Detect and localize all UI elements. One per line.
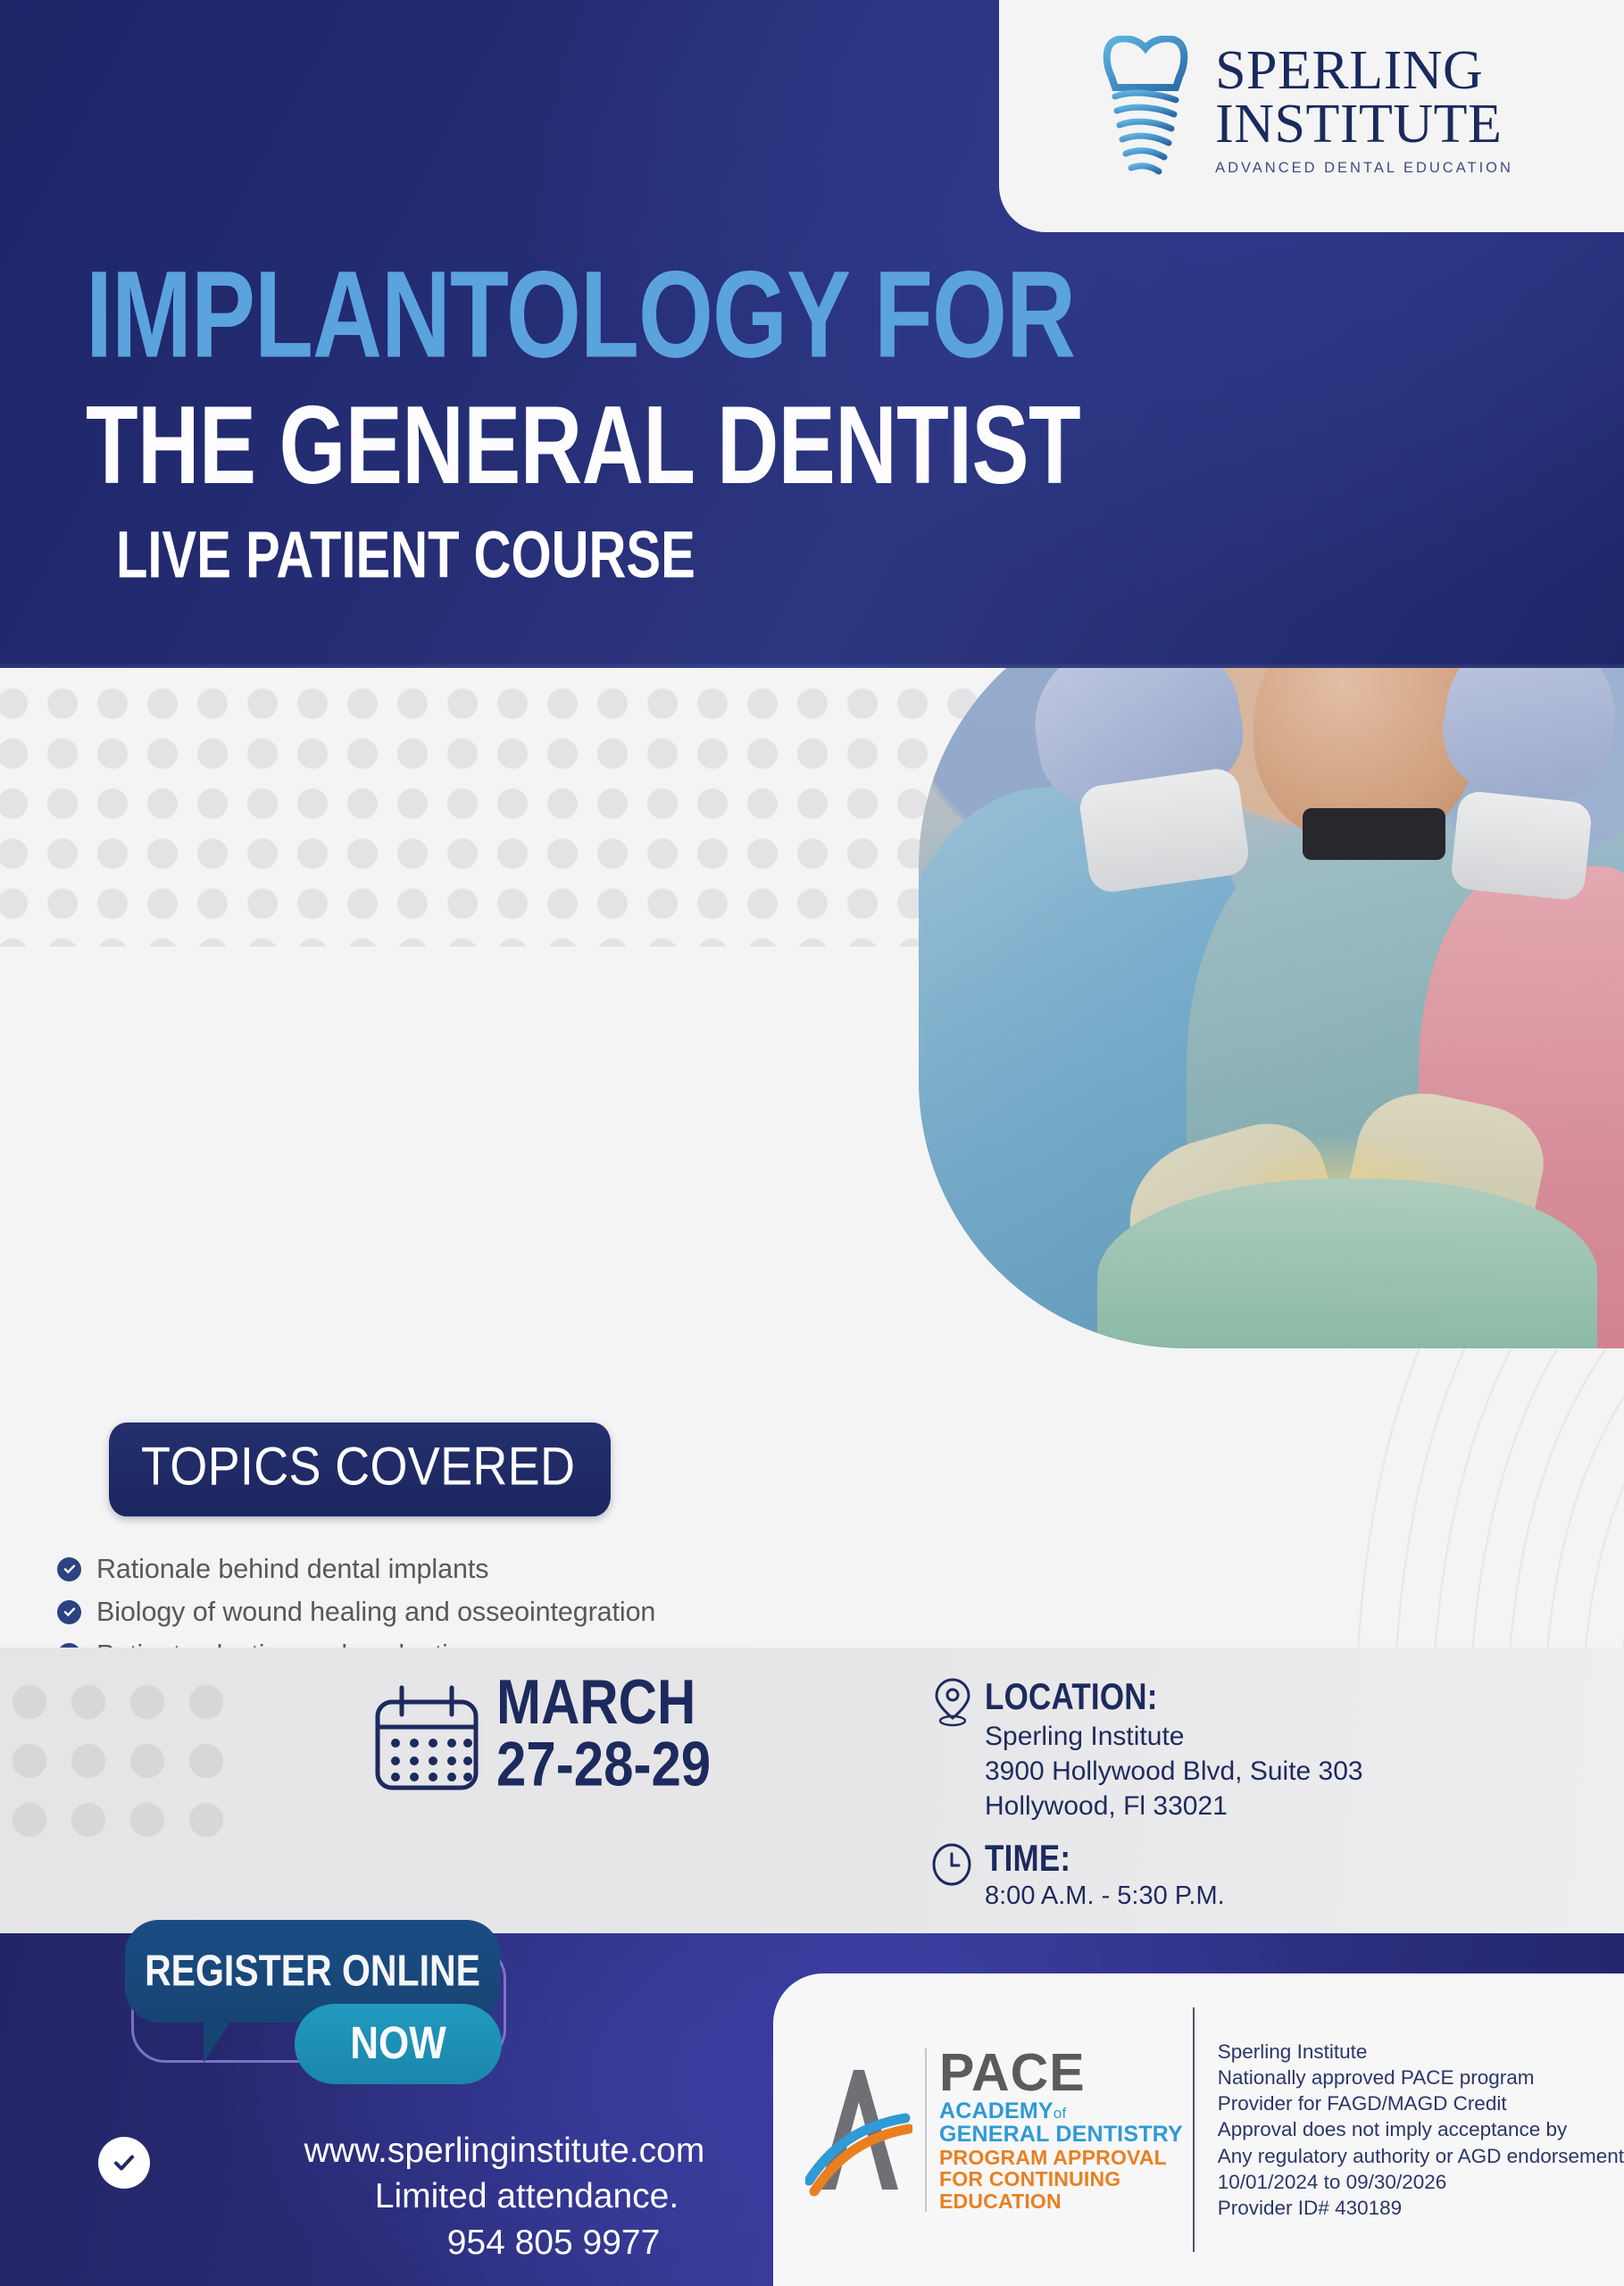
pace-for-continuing: FOR CONTINUING — [939, 2168, 1183, 2190]
location-pin-icon — [930, 1677, 975, 1727]
list-item: Rationale behind dental implants — [57, 1548, 1004, 1590]
logo-line-1: SPERLING — [1215, 45, 1483, 98]
location-label: LOCATION: — [985, 1676, 1158, 1719]
pace-line: Nationally approved PACE program — [1218, 2065, 1624, 2090]
pace-details: Sperling Institute Nationally approved P… — [1218, 2039, 1624, 2222]
title-line-1: IMPLANTOLOGY FOR — [86, 253, 1075, 376]
main-content: TOPICS COVERED Rationale behind dental i… — [0, 668, 1624, 1648]
time-value: 8:00 A.M. - 5:30 P.M. — [985, 1881, 1225, 1911]
pace-wordmark: PACE ACADEMYof GENERAL DENTISTRY PROGRAM… — [925, 2048, 1183, 2212]
logo-line-2: INSTITUTE — [1215, 98, 1502, 152]
topic-label: Biology of wound healing and osseointegr… — [96, 1598, 655, 1626]
pace-program-approval: PROGRAM APPROVAL — [939, 2147, 1183, 2168]
pace-logo: PACE ACADEMYof GENERAL DENTISTRY PROGRAM… — [805, 2048, 1189, 2212]
address-line-1: Sperling Institute — [985, 1719, 1363, 1754]
dot-pattern-decoration — [0, 1673, 232, 1851]
limited-attendance-note: Limited attendance. — [0, 2173, 804, 2219]
pace-academy-line: ACADEMYof — [939, 2099, 1183, 2123]
time-label: TIME: — [985, 1838, 1070, 1881]
register-online-label: REGISTER ONLINE — [145, 1946, 480, 1996]
register-now-button[interactable]: NOW — [295, 2004, 502, 2084]
pace-accreditation-card: PACE ACADEMYof GENERAL DENTISTRY PROGRAM… — [773, 1973, 1624, 2286]
pace-line: Provider ID# 430189 — [1218, 2195, 1624, 2221]
pace-line: 10/01/2024 to 09/30/2026 — [1218, 2169, 1624, 2195]
topic-label: Rationale behind dental implants — [96, 1555, 488, 1583]
topic-label: Patient selection and evaluation — [96, 1640, 479, 1648]
pace-academy-of: of — [1054, 2105, 1067, 2122]
pace-line: Provider for FAGD/MAGD Credit — [1218, 2090, 1624, 2116]
address-line-2: 3900 Hollywood Blvd, Suite 303 — [985, 1754, 1363, 1789]
pace-line: Any regulatory authority or AGD endorsem… — [1218, 2143, 1624, 2169]
poster: SPERLING INSTITUTE ADVANCED DENTAL EDUCA… — [0, 0, 1624, 2286]
register-now-label: NOW — [350, 2018, 446, 2070]
location-address: Sperling Institute 3900 Hollywood Blvd, … — [985, 1719, 1363, 1823]
pace-line: Sperling Institute — [1218, 2039, 1624, 2065]
phone-number[interactable]: 954 805 9977 — [0, 2220, 804, 2265]
pace-line: Approval does not imply acceptance by — [1218, 2116, 1624, 2142]
calendar-icon — [373, 1682, 480, 1793]
title-line-3: LIVE PATIENT COURSE — [116, 522, 695, 588]
list-item: Patient selection and evaluation — [57, 1633, 1004, 1648]
website-link[interactable]: www.sperlinginstitute.com — [0, 2128, 804, 2173]
check-circle-icon — [57, 1600, 81, 1624]
contact-info: www.sperlinginstitute.com Limited attend… — [0, 2128, 804, 2265]
clock-icon — [930, 1843, 973, 1886]
list-item: Biology of wound healing and osseointegr… — [57, 1590, 1004, 1633]
speech-bubble-tail-icon — [204, 2016, 234, 2063]
topics-list: Rationale behind dental implants Biology… — [57, 1548, 1004, 1648]
topics-covered-badge: TOPICS COVERED — [109, 1422, 611, 1516]
event-info-band — [0, 1648, 1624, 1933]
pace-title: PACE — [939, 2048, 1183, 2099]
surgery-photo — [919, 668, 1624, 1348]
divider — [1193, 2007, 1195, 2252]
pace-academy: ACADEMY — [939, 2098, 1054, 2123]
brand-logo: SPERLING INSTITUTE ADVANCED DENTAL EDUCA… — [999, 0, 1624, 232]
dental-implant-logo-icon — [1099, 36, 1192, 186]
event-month: MARCH — [496, 1672, 711, 1732]
address-line-3: Hollywood, Fl 33021 — [985, 1789, 1363, 1823]
check-circle-icon — [57, 1557, 81, 1581]
agd-a-icon — [805, 2063, 912, 2197]
pace-education: EDUCATION — [939, 2190, 1183, 2212]
title-line-2: THE GENERAL DENTIST — [86, 390, 1080, 502]
logo-tagline: ADVANCED DENTAL EDUCATION — [1215, 160, 1513, 177]
event-date: MARCH 27-28-29 — [496, 1672, 711, 1796]
event-days: 27-28-29 — [496, 1732, 711, 1796]
pace-general-dentistry: GENERAL DENTISTRY — [939, 2123, 1183, 2147]
header-banner: SPERLING INSTITUTE ADVANCED DENTAL EDUCA… — [0, 0, 1624, 668]
dot-pattern-decoration — [0, 679, 1023, 947]
